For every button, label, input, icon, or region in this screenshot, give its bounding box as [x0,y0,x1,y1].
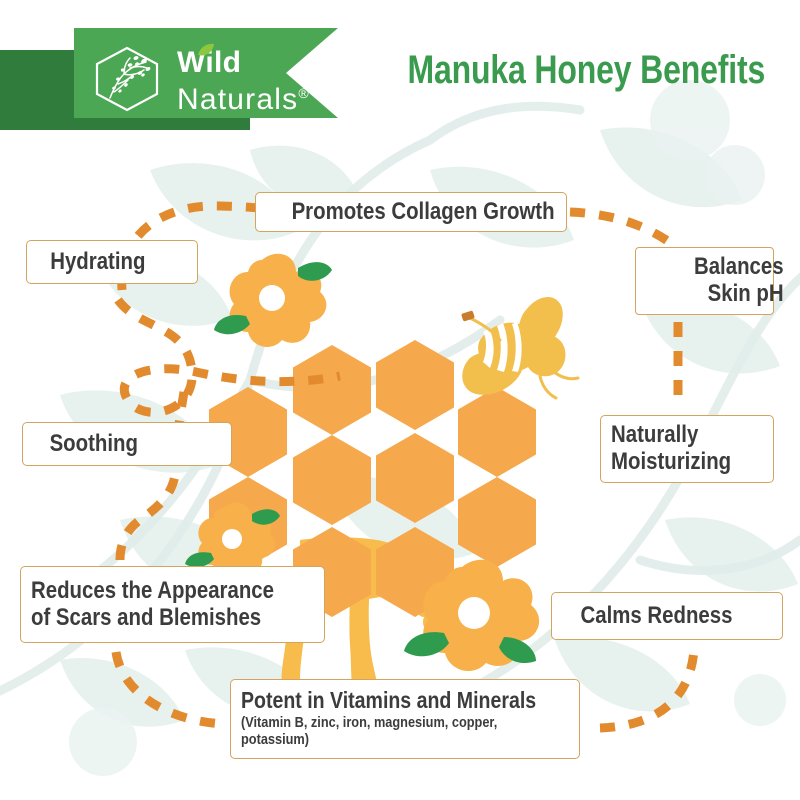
benefit-soothing[interactable]: Soothing [22,422,232,466]
registered-trademark-icon: ® [298,85,310,101]
benefit-label: Potent in Vitamins and Minerals [241,688,569,713]
brand-name-line-2: Naturals® [177,78,310,115]
bee-icon [461,297,578,398]
benefit-label: Soothing [50,430,238,457]
benefit-balances-skin-ph[interactable]: Balances Skin pH [635,247,774,315]
benefit-naturally-moisturizing[interactable]: Naturally Moisturizing [600,415,774,483]
banner-fold-left [0,50,82,130]
benefit-hydrating[interactable]: Hydrating [26,240,198,284]
benefit-label: Naturally Moisturizing [611,421,763,475]
benefit-potent-in-vitamins-and-minerals[interactable]: Potent in Vitamins and Minerals (Vitamin… [230,679,580,759]
infographic-canvas: Wild Naturals® Manuka Honey Benefits Pro… [0,0,800,800]
tree-in-hexagon-icon [90,44,164,114]
leaf-accent-icon [196,42,216,58]
brand-name-text: Naturals [177,83,298,116]
benefit-label: Calms Redness [581,602,791,629]
benefit-calms-redness[interactable]: Calms Redness [551,592,783,640]
benefit-label: Balances Skin pH [667,253,784,307]
benefit-sublabel: (Vitamin B, zinc, iron, magnesium, coppe… [241,714,569,748]
benefit-label: Reduces the Appearance of Scars and Blem… [31,577,314,631]
flower-icon [214,254,332,347]
benefit-reduces-scars-and-blemishes[interactable]: Reduces the Appearance of Scars and Blem… [20,566,325,643]
flower-icon [404,560,539,671]
page-title: Manuka Honey Benefits [408,48,748,92]
benefit-promotes-collagen-growth[interactable]: Promotes Collagen Growth [255,192,567,232]
benefit-label: Hydrating [50,248,200,275]
benefit-label: Promotes Collagen Growth [292,198,582,225]
brand-banner: Wild Naturals® [0,20,360,150]
